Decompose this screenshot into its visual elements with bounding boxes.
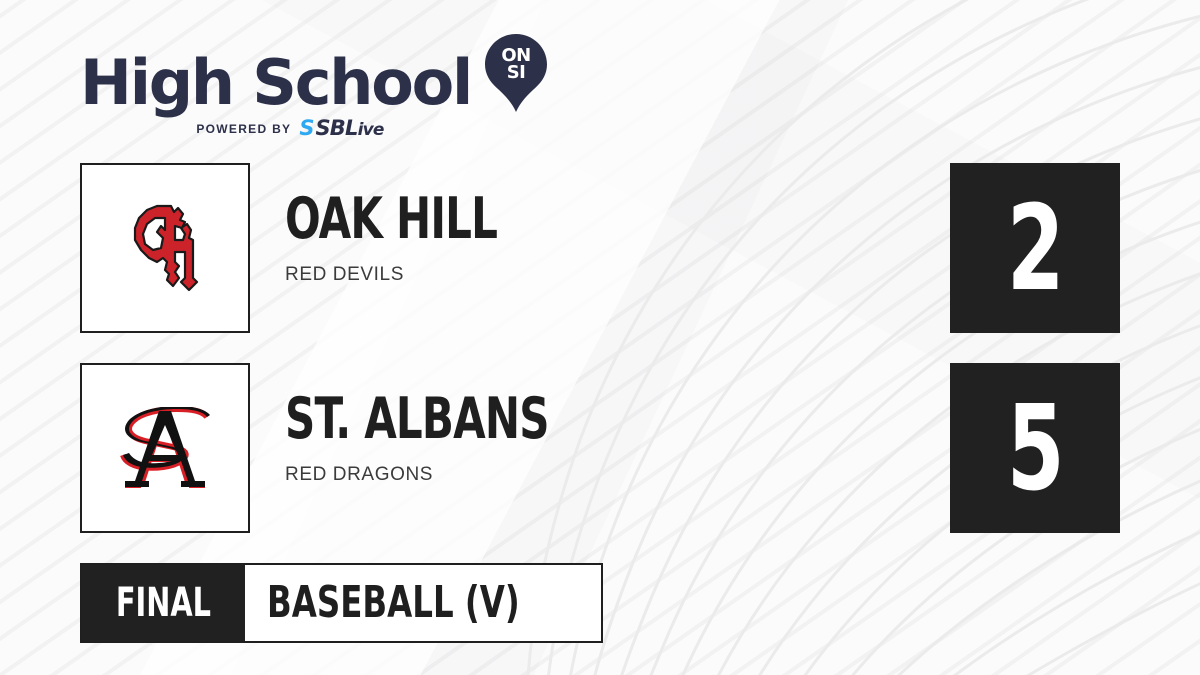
team-score-box: 5 (950, 363, 1120, 533)
map-pin-badge-icon: ON SI (485, 34, 547, 112)
team-text-block: OAK HILL RED DEVILS (285, 191, 544, 286)
brand-wordmark: High School (80, 53, 471, 114)
team-mascot: RED DEVILS (285, 264, 544, 286)
team-score: 2 (1007, 189, 1063, 307)
team-logo-box (80, 163, 250, 333)
sport-label-panel: BASEBALL (V) (245, 565, 601, 641)
sblive-wordmark-upper: SBL (315, 116, 357, 140)
brand-header: High School ON SI POWERED BY S SBLive (80, 34, 547, 139)
sblive-logo: S SBLive (299, 118, 383, 139)
team-name: OAK HILL (285, 191, 497, 248)
st-albans-sa-monogram-logo (111, 407, 219, 489)
sblive-wordmark-lower: ive (358, 120, 384, 140)
team-text-block: ST. ALBANS RED DRAGONS (285, 391, 607, 486)
team-score-box: 2 (950, 163, 1120, 333)
team-name: ST. ALBANS (285, 391, 549, 448)
pin-badge-line-2: SI (485, 64, 547, 81)
team-score: 5 (1007, 389, 1063, 507)
sport-label: BASEBALL (V) (267, 581, 520, 625)
team-logo-box (80, 363, 250, 533)
game-status-bar: FINAL BASEBALL (V) (80, 563, 603, 643)
status-badge-label: FINAL (116, 583, 211, 623)
brand-lockup: High School ON SI (80, 34, 547, 114)
sblive-mark-icon: S (299, 118, 312, 139)
status-badge: FINAL (82, 565, 245, 641)
oak-hill-oh-monogram-logo (119, 200, 211, 296)
powered-by-label: POWERED BY (196, 122, 291, 136)
team-mascot: RED DRAGONS (285, 464, 607, 486)
pin-badge-text: ON SI (485, 47, 547, 81)
sblive-wordmark: SBLive (315, 118, 383, 139)
scoreboard-graphic: High School ON SI POWERED BY S SBLive (0, 0, 1200, 675)
powered-by-lockup: POWERED BY S SBLive (80, 118, 500, 139)
